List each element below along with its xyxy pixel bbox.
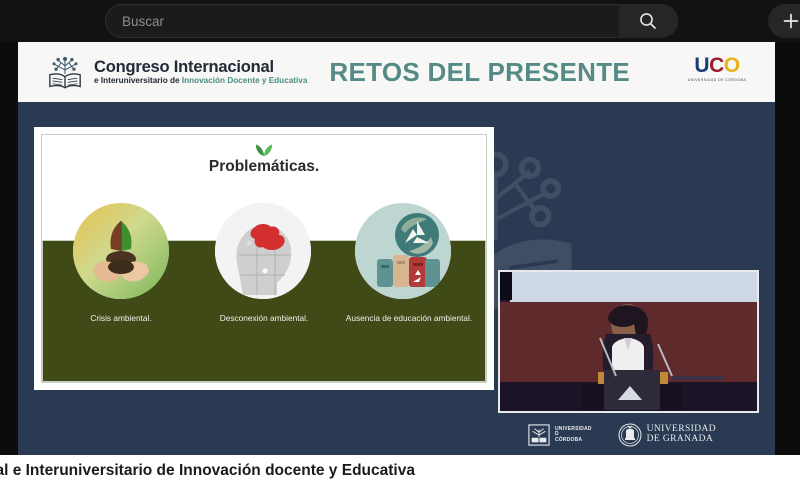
uco-logo: UCO UNIVERSIDAD DE CÓRDOBA [687, 55, 747, 82]
uco-footer-line3: CÓRDOBA [555, 438, 592, 443]
uco-letter-o: O [724, 54, 740, 77]
hands-holding-soil-leaf-image [73, 203, 169, 299]
uco-wordmark: UCO [687, 55, 747, 76]
green-leaves-icon [254, 143, 274, 157]
universidad-de-cordoba-logo: UNIVERSIDAD D CÓRDOBA [528, 424, 592, 446]
uco-footer-line1: UNIVERSIDAD [555, 427, 592, 432]
congress-wordmark: Congreso Internacional e Interuniversita… [94, 59, 307, 86]
slide-header: Congreso Internacional e Interuniversita… [18, 42, 775, 102]
uco-letter-c: C [709, 54, 724, 77]
search-input[interactable] [106, 4, 619, 38]
ugr-footer-text: UNIVERSIDAD DE GRANADA [647, 425, 716, 445]
uco-subtitle: UNIVERSIDAD DE CÓRDOBA [687, 78, 747, 82]
screen-root: Congreso Internacional e Interuniversita… [0, 0, 800, 500]
congress-name-line2: e Interuniversitario de Innovación Docen… [94, 77, 307, 86]
problem-image-2 [215, 203, 311, 299]
search-button[interactable] [619, 4, 677, 38]
slide-right-letterbox [775, 42, 800, 455]
congress-line2-accent: Innovación Docente y Educativa [182, 76, 308, 85]
problems-green-band: Crisis ambiental. Desconexión ambiental.… [42, 240, 486, 382]
speaker-video-overlay[interactable] [498, 270, 759, 413]
universidad-de-granada-logo: UNIVERSIDAD DE GRANADA [618, 423, 716, 447]
panel-heading: Problemáticas. [34, 143, 494, 176]
presentation-slide[interactable]: Congreso Internacional e Interuniversita… [18, 42, 775, 455]
problem-caption-3: Ausencia de educación ambiental. [339, 313, 479, 323]
speaker-video-feed [500, 272, 757, 411]
top-toolbar [0, 0, 800, 42]
search-bar[interactable] [105, 4, 678, 38]
uco-footer-text: UNIVERSIDAD D CÓRDOBA [555, 427, 592, 443]
recycling-bins-globe-image [355, 203, 451, 299]
footer-university-logos: UNIVERSIDAD D CÓRDOBA UNIVERSIDAD [528, 423, 716, 447]
ugr-footer-line2: DE GRANADA [647, 435, 716, 445]
puzzle-head-red-piece-image [215, 203, 311, 299]
slide-body: Problemáticas. [18, 102, 775, 455]
congress-line2-bold: e Interuniversitario de [94, 76, 182, 85]
bottom-caption-text: nal e Interuniversitario de Innovación d… [0, 462, 746, 480]
problem-caption-2: Desconexión ambiental. [189, 313, 339, 323]
panel-heading-text: Problemáticas. [209, 158, 319, 175]
slide-title: RETOS DEL PRESENTE [329, 57, 630, 88]
universidad-de-granada-logo-icon [618, 423, 642, 447]
book-circuit-logo-icon [44, 52, 86, 92]
problem-image-3 [355, 203, 451, 299]
problem-image-1 [73, 203, 169, 299]
congress-name-line1: Congreso Internacional [94, 59, 307, 76]
plus-icon [781, 11, 800, 31]
slide-left-letterbox [0, 42, 18, 455]
problem-caption-1: Crisis ambiental. [53, 313, 189, 323]
uco-letter-u: U [694, 54, 709, 77]
universidad-de-cordoba-logo-icon [528, 424, 550, 446]
add-button[interactable] [768, 4, 800, 38]
slide-content-panel: Problemáticas. [34, 127, 494, 390]
search-icon [638, 11, 658, 31]
